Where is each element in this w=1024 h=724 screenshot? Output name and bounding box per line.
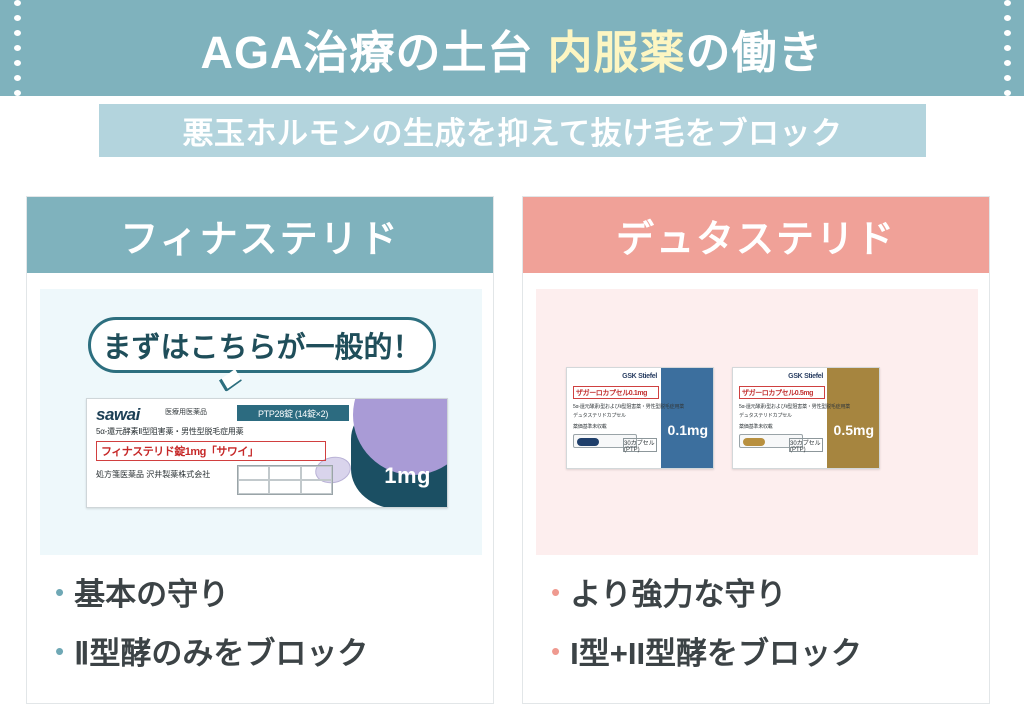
bullet-dot-icon: • [55, 579, 64, 605]
package-name-banner: フィナステリド錠1mg「サワイ」 [96, 441, 326, 461]
package-dose-text: 1mg [384, 463, 431, 489]
capsule-illustration [743, 438, 765, 446]
bullet-dot-icon: • [55, 638, 64, 664]
card-dutasteride: デュタステリド GSK Stiefel ザガーロカプセル0.1mg 5α-還元酵… [522, 196, 990, 704]
capsule-illustration [577, 438, 599, 446]
package-dose-text: 0.1mg [668, 422, 708, 438]
package-dose-panel [661, 368, 713, 469]
page-title-main: AGA治療の土台 [200, 16, 533, 81]
card-finasteride-image-panel: まずはこちらが一般的！ sawai 医療用医薬品 PTP28錠 (14錠×2) … [40, 289, 482, 555]
card-dutasteride-image-panel: GSK Stiefel ザガーロカプセル0.1mg 5α-還元酵素Ⅰ型およびⅡ型… [536, 289, 978, 555]
card-finasteride: フィナステリド まずはこちらが一般的！ sawai 医療用医薬品 PTP28錠 … [26, 196, 494, 704]
card-finasteride-heading-text: フィナステリド [120, 208, 399, 263]
list-item: • I型+II型酵をブロック [551, 628, 971, 673]
package-name-text: フィナステリド錠1mg「サワイ」 [101, 443, 258, 459]
dutasteride-bullet-list: • より強力な守り • I型+II型酵をブロック [551, 569, 971, 687]
list-item: • Ⅱ型酵のみをブロック [55, 628, 475, 673]
page-title-accent: 内服薬 [547, 16, 685, 81]
card-dutasteride-heading: デュタステリド [523, 197, 989, 273]
list-item-label: Ⅱ型酵のみをブロック [74, 628, 368, 673]
dutasteride-package-image-01mg: GSK Stiefel ザガーロカプセル0.1mg 5α-還元酵素Ⅰ型およびⅡ型… [566, 367, 714, 469]
subtitle-text: 悪玉ホルモンの生成を抑えて抜け毛をブロック [183, 108, 843, 153]
package-name-text: ザガーロカプセル0.1mg [576, 388, 647, 398]
table-cell [301, 480, 332, 494]
package-quantity: 30カプセル(PTP) [789, 438, 823, 452]
recommendation-badge-text: まずはこちらが一般的！ [102, 324, 421, 366]
package-line1: 5α-還元酵素Ⅰ型およびⅡ型阻害薬・男性型脱毛症用薬 [573, 403, 684, 410]
package-name-text: ザガーロカプセル0.5mg [742, 388, 813, 398]
subtitle-ribbon: 悪玉ホルモンの生成を抑えて抜け毛をブロック [99, 104, 926, 157]
package-ptp-label: PTP28錠 (14錠×2) [237, 405, 349, 421]
package-info-table [237, 465, 333, 495]
recommendation-badge: まずはこちらが一般的！ [88, 317, 436, 373]
package-brand: sawai [96, 405, 140, 425]
header-band: AGA治療の土台 内服薬 の働き [0, 0, 1024, 96]
package-dose-panel [827, 368, 879, 469]
package-name-banner: ザガーロカプセル0.1mg [573, 386, 659, 399]
package-line2: デュタステリドカプセル [739, 412, 792, 419]
package-name-banner: ザガーロカプセル0.5mg [739, 386, 825, 399]
package-logo: GSK Stiefel [622, 373, 657, 380]
page-title-tail: の働き [686, 16, 824, 81]
list-item-label: 基本の守り [74, 569, 229, 614]
infographic-page: AGA治療の土台 内服薬 の働き 悪玉ホルモンの生成を抑えて抜け毛をブロック フ… [0, 0, 1024, 724]
bullet-dot-icon: • [551, 638, 560, 664]
card-dutasteride-heading-text: デュタステリド [616, 208, 896, 263]
package-line2: デュタステリドカプセル [573, 412, 626, 419]
table-cell [269, 466, 300, 480]
package-line3: 薬価基準未収載 [739, 423, 773, 430]
package-line3: 薬価基準未収載 [573, 423, 607, 430]
package-subline: 5α-還元酵素Ⅱ型阻害薬・男性型脱毛症用薬 [96, 426, 243, 437]
list-item-label: I型+II型酵をブロック [570, 628, 862, 673]
list-item: • 基本の守り [55, 569, 475, 614]
package-quantity: 30カプセル(PTP) [623, 438, 657, 452]
table-cell [238, 466, 269, 480]
list-item: • より強力な守り [551, 569, 971, 614]
card-finasteride-heading: フィナステリド [27, 197, 493, 273]
package-dose-text: 0.5mg [834, 422, 874, 438]
page-title: AGA治療の土台 内服薬 の働き [0, 0, 1024, 96]
table-cell [269, 480, 300, 494]
bullet-dot-icon: • [551, 579, 560, 605]
package-top-small: 医療用医薬品 [165, 407, 207, 417]
finasteride-package-image: sawai 医療用医薬品 PTP28錠 (14錠×2) 5α-還元酵素Ⅱ型阻害薬… [86, 398, 448, 508]
table-cell [301, 466, 332, 480]
package-logo: GSK Stiefel [788, 373, 823, 380]
package-left-note: 処方箋医薬品 沢井製薬株式会社 [96, 469, 210, 481]
table-cell [238, 480, 269, 494]
finasteride-bullet-list: • 基本の守り • Ⅱ型酵のみをブロック [55, 569, 475, 687]
package-line1: 5α-還元酵素Ⅰ型およびⅡ型阻害薬・男性型脱毛症用薬 [739, 403, 850, 410]
dutasteride-package-image-05mg: GSK Stiefel ザガーロカプセル0.5mg 5α-還元酵素Ⅰ型およびⅡ型… [732, 367, 880, 469]
list-item-label: より強力な守り [570, 569, 786, 614]
